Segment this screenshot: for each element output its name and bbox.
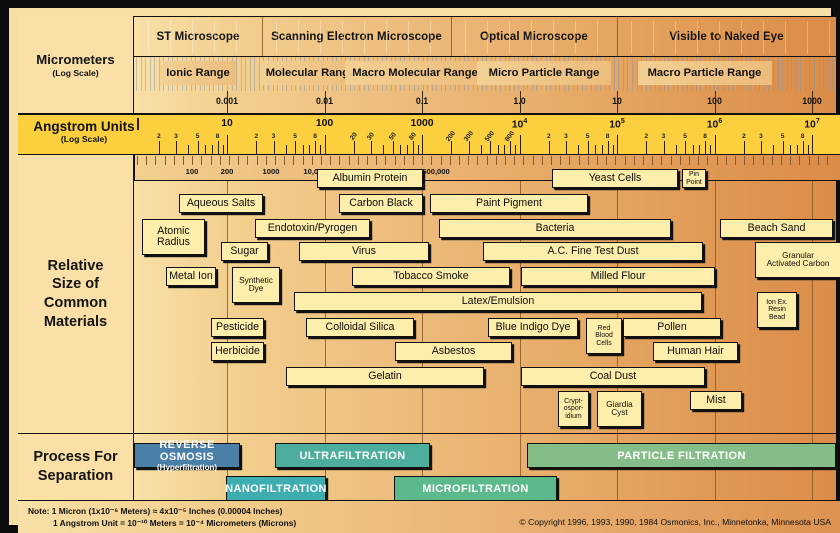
material-bar[interactable]: Human Hair xyxy=(653,342,738,361)
microscopy-band: ST MicroscopeScanning Electron Microscop… xyxy=(134,16,836,57)
size-range-3: Micro Particle Range xyxy=(474,61,614,85)
angstrom-minor-tick xyxy=(205,145,206,154)
mw-tick xyxy=(809,156,810,165)
angstrom-minor-tick xyxy=(451,141,452,154)
angstrom-minor-tick xyxy=(212,145,213,154)
band-hatch xyxy=(575,21,576,54)
mw-tick xyxy=(661,156,662,165)
mw-tick-label: 200 xyxy=(221,167,234,176)
material-label-line: Dye xyxy=(249,285,264,293)
angstrom-minor-tick xyxy=(315,141,316,154)
angstrom-minor-tick xyxy=(588,141,589,154)
mw-tick xyxy=(330,156,331,165)
material-bar[interactable]: Colloidal Silica xyxy=(306,318,414,337)
angstrom-minor-tick xyxy=(320,145,321,154)
angstrom-minor-label: 5 xyxy=(293,133,297,140)
band-hatch xyxy=(531,21,532,54)
mw-tick xyxy=(496,156,497,165)
material-bar[interactable]: Blue Indigo Dye xyxy=(488,318,578,337)
mw-tick xyxy=(615,156,616,165)
angstrom-minor-tick xyxy=(371,141,372,154)
mw-tick xyxy=(395,156,396,165)
size-range-4: Macro Particle Range xyxy=(635,61,775,85)
band-hatch xyxy=(465,21,466,54)
angstrom-minor-tick xyxy=(354,141,355,154)
microscopy-band-1: Scanning Electron Microscope xyxy=(262,17,451,56)
micrometers-label-text: Micrometers xyxy=(36,52,114,67)
band-hatch xyxy=(320,21,321,54)
material-label-line: Blood xyxy=(595,332,613,339)
process-label: ULTRAFILTRATION xyxy=(299,450,405,462)
mw-tick xyxy=(183,156,184,165)
band-hatch xyxy=(148,21,149,54)
material-label-line: Crypt- xyxy=(564,398,583,405)
section-label-line: Relative xyxy=(48,257,104,276)
angstrom-minor-label: 500 xyxy=(484,130,496,143)
mw-tick xyxy=(707,156,708,165)
band-hatch xyxy=(719,21,720,54)
process-bar[interactable]: MICROFILTRATION xyxy=(394,476,557,501)
section-label-line: Materials xyxy=(44,313,107,332)
band-hatch xyxy=(342,21,343,54)
angstrom-minor-label: 5 xyxy=(781,133,785,140)
note-line-2: 1 Angstrom Unit = 10⁻¹⁰ Meters = 10⁻⁴ Mi… xyxy=(53,518,296,528)
angstrom-minor-label: 8 xyxy=(313,133,317,140)
material-bar[interactable]: Virus xyxy=(299,242,429,261)
angstrom-origin-tick xyxy=(137,118,139,130)
chart-frame: ST MicroscopeScanning Electron Microscop… xyxy=(9,8,831,525)
mw-tick xyxy=(165,156,166,165)
angstrom-minor-tick xyxy=(198,141,199,154)
mw-tick xyxy=(781,156,782,165)
angstrom-minor-tick xyxy=(407,145,408,154)
band-hatch xyxy=(807,21,808,54)
size-range-2: Macro Molecular Range xyxy=(345,61,485,85)
angstrom-minor-tick xyxy=(223,145,224,154)
material-bar[interactable]: Pesticide xyxy=(211,318,264,337)
mw-tick xyxy=(413,156,414,165)
mw-tick xyxy=(146,156,147,165)
mw-tick xyxy=(579,156,580,165)
angstrom-major-tick xyxy=(227,135,228,154)
mw-tick xyxy=(753,156,754,165)
angstrom-major-label: 104 xyxy=(512,118,527,130)
material-label-line: Activated Carbon xyxy=(767,260,830,268)
angstrom-minor-tick xyxy=(549,141,550,154)
mw-tick xyxy=(487,156,488,165)
angstrom-minor-label: 8 xyxy=(216,133,220,140)
mw-tick xyxy=(312,156,313,165)
mw-tick xyxy=(247,156,248,165)
material-bar[interactable]: SyntheticDye xyxy=(232,267,280,303)
micrometer-tick-label: 0.001 xyxy=(216,96,238,106)
angstrom-minor-label: 8 xyxy=(801,133,805,140)
mw-tick xyxy=(523,156,524,165)
angstrom-minor-tick xyxy=(761,141,762,154)
mw-tick xyxy=(459,156,460,165)
process-section-label: Process ForSeparation xyxy=(18,433,134,500)
angstrom-minor-tick xyxy=(646,141,647,154)
microscopy-band-3: Visible to Naked Eye xyxy=(617,17,836,56)
angstrom-minor-tick xyxy=(566,141,567,154)
microscopy-band-0: ST Microscope xyxy=(134,17,262,56)
angstrom-minor-tick xyxy=(664,141,665,154)
mw-tick xyxy=(588,156,589,165)
band-hatch xyxy=(697,21,698,54)
band-hatch xyxy=(276,21,277,54)
material-label-line: Ion Ex. xyxy=(766,299,787,306)
micrometer-tick-label: 0.1 xyxy=(416,96,428,106)
angstrom-minor-label: 3 xyxy=(662,133,666,140)
angstrom-minor-tick xyxy=(515,145,516,154)
angstrom-major-tick xyxy=(520,135,521,154)
mw-tick xyxy=(385,156,386,165)
angstrom-minor-tick xyxy=(383,145,384,154)
band-separator xyxy=(617,17,618,56)
materials-section-label: RelativeSize ofCommonMaterials xyxy=(18,155,134,433)
mw-tick xyxy=(404,156,405,165)
angstrom-minor-tick xyxy=(413,141,414,154)
angstrom-minor-tick xyxy=(602,145,603,154)
mw-tick xyxy=(174,156,175,165)
angstrom-minor-tick xyxy=(418,145,419,154)
angstrom-minor-label: 2 xyxy=(157,133,161,140)
mw-tick xyxy=(763,156,764,165)
range-hatch xyxy=(632,57,633,91)
material-label-line: ospor- xyxy=(564,405,584,412)
mw-tick xyxy=(367,156,368,165)
band-hatch xyxy=(214,21,215,54)
mw-tick xyxy=(634,156,635,165)
material-bar[interactable]: Endotoxin/Pyrogen xyxy=(255,219,370,238)
angstrom-minor-tick xyxy=(400,145,401,154)
process-bar[interactable]: NANOFILTRATION xyxy=(226,476,326,501)
micrometers-sub-text: (Log Scale) xyxy=(52,68,98,78)
angstrom-minor-label: 2 xyxy=(645,133,649,140)
range-hatch xyxy=(828,57,829,91)
material-bar[interactable]: RedBloodCells xyxy=(586,318,622,354)
angstrom-label-text: Angstrom Units xyxy=(28,119,140,134)
band-hatch xyxy=(408,21,409,54)
mw-tick xyxy=(643,156,644,165)
band-hatch xyxy=(170,21,171,54)
angstrom-minor-tick xyxy=(744,141,745,154)
mw-tick xyxy=(551,156,552,165)
process-label: MICROFILTRATION xyxy=(422,483,528,495)
micrometer-tick-label: 1000 xyxy=(802,96,822,106)
band-hatch xyxy=(192,21,193,54)
micrometer-tick-row: 0.0010.010.11.0101001000 xyxy=(134,91,836,114)
mw-tick xyxy=(441,156,442,165)
micrometer-tick-label: 1.0 xyxy=(513,96,525,106)
material-bar[interactable]: Herbicide xyxy=(211,342,264,361)
angstrom-major-label: 105 xyxy=(609,118,624,130)
material-bar[interactable]: Albumin Protein xyxy=(317,169,423,188)
microscopy-band-2: Optical Microscope xyxy=(451,17,617,56)
material-bar[interactable]: AtomicRadius xyxy=(142,219,205,255)
mw-tick xyxy=(542,156,543,165)
mw-tick xyxy=(689,156,690,165)
material-bar[interactable]: Ion Ex.ResinBead xyxy=(757,292,797,328)
material-label-line: Point xyxy=(686,179,702,186)
angstrom-minor-label: 8 xyxy=(703,133,707,140)
material-bar[interactable]: Metal Ion xyxy=(166,267,216,286)
material-label-line: Red xyxy=(598,325,611,332)
micrometers-axis-label: Micrometers (Log Scale) xyxy=(18,16,134,114)
range-hatch xyxy=(778,57,779,91)
material-bar[interactable]: Milled Flour xyxy=(521,267,715,286)
angstrom-minor-label: 300 xyxy=(462,130,474,143)
mw-tick xyxy=(238,156,239,165)
material-bar[interactable]: Coal Dust xyxy=(521,367,705,386)
process-label: NANOFILTRATION xyxy=(225,483,327,495)
mw-tick xyxy=(192,156,193,165)
angstrom-major-tick xyxy=(422,135,423,154)
angstrom-major-tick xyxy=(812,135,813,154)
angstrom-major-label: 1000 xyxy=(410,118,433,129)
material-bar[interactable]: Carbon Black xyxy=(339,194,423,213)
angstrom-minor-label: 8 xyxy=(606,133,610,140)
angstrom-minor-tick xyxy=(504,145,505,154)
process-label: PARTICLE FILTRATION xyxy=(617,450,746,462)
band-hatch xyxy=(785,21,786,54)
footer-bar: Note: 1 Micron (1x10⁻⁶ Meters) ≈ 4x10⁻⁵ … xyxy=(18,500,840,533)
material-label-line: Pin xyxy=(689,171,699,178)
mw-tick xyxy=(533,156,534,165)
angstrom-minor-label: 2 xyxy=(742,133,746,140)
mw-tick xyxy=(155,156,156,165)
mw-tick xyxy=(477,156,478,165)
range-hatch xyxy=(796,57,797,91)
angstrom-minor-tick xyxy=(481,145,482,154)
band-hatch xyxy=(298,21,299,54)
angstrom-minor-label: 30 xyxy=(366,131,376,141)
angstrom-minor-tick xyxy=(608,141,609,154)
mw-tick xyxy=(303,156,304,165)
mw-tick xyxy=(505,156,506,165)
band-hatch xyxy=(597,21,598,54)
angstrom-minor-tick xyxy=(393,141,394,154)
angstrom-minor-tick xyxy=(510,141,511,154)
mw-tick xyxy=(625,156,626,165)
angstrom-minor-label: 2 xyxy=(255,133,259,140)
mw-tick xyxy=(698,156,699,165)
material-bar[interactable]: Sugar xyxy=(221,242,268,261)
angstrom-minor-tick xyxy=(693,145,694,154)
material-bar[interactable]: GiardiaCyst xyxy=(597,391,642,427)
angstrom-minor-tick xyxy=(797,145,798,154)
mw-tick xyxy=(358,156,359,165)
mw-tick xyxy=(514,156,515,165)
angstrom-axis-label: Angstrom Units (Log Scale) xyxy=(28,119,140,144)
band-separator xyxy=(451,17,452,56)
mw-tick-label: 500,000 xyxy=(422,167,449,176)
mw-tick xyxy=(717,156,718,165)
copyright-text: © Copyright 1996, 1993, 1990, 1984 Osmon… xyxy=(519,517,831,527)
angstrom-minor-tick xyxy=(303,145,304,154)
angstrom-minor-label: 5 xyxy=(683,133,687,140)
band-hatch xyxy=(631,21,632,54)
angstrom-minor-tick xyxy=(176,141,177,154)
range-hatch xyxy=(819,57,820,91)
mw-tick xyxy=(744,156,745,165)
angstrom-minor-tick xyxy=(218,141,219,154)
process-bar[interactable]: ULTRAFILTRATION xyxy=(275,443,430,468)
angstrom-minor-tick xyxy=(469,141,470,154)
mw-tick xyxy=(349,156,350,165)
material-bar[interactable]: Yeast Cells xyxy=(552,169,678,188)
angstrom-minor-tick xyxy=(490,141,491,154)
range-hatch xyxy=(627,57,628,91)
note-line-1: Note: 1 Micron (1x10⁻⁶ Meters) ≈ 4x10⁻⁵ … xyxy=(28,506,282,516)
band-hatch xyxy=(364,21,365,54)
mw-tick xyxy=(431,156,432,165)
material-bar[interactable]: GranularActivated Carbon xyxy=(755,242,840,278)
band-separator xyxy=(262,17,263,56)
angstrom-minor-label: 20 xyxy=(349,131,359,141)
angstrom-major-label: 107 xyxy=(804,118,819,130)
angstrom-minor-label: 800 xyxy=(504,130,516,143)
material-bar[interactable]: Gelatin xyxy=(286,367,484,386)
size-range-band: Ionic RangeMolecular RangeMacro Molecula… xyxy=(134,57,836,91)
angstrom-major-tick xyxy=(325,135,326,154)
angstrom-minor-tick xyxy=(710,145,711,154)
angstrom-minor-tick xyxy=(808,145,809,154)
process-bar[interactable]: REVERSE OSMOSIS(Hyperfiltration) xyxy=(134,443,240,468)
angstrom-minor-tick xyxy=(699,145,700,154)
band-hatch xyxy=(829,21,830,54)
process-bar[interactable]: PARTICLE FILTRATION xyxy=(527,443,836,468)
material-bar[interactable]: Latex/Emulsion xyxy=(294,292,702,311)
angstrom-minor-label: 5 xyxy=(586,133,590,140)
material-bar[interactable]: Tobacco Smoke xyxy=(352,267,510,286)
mw-tick-label: 100 xyxy=(186,167,199,176)
angstrom-major-label: 100 xyxy=(316,118,333,129)
material-bar[interactable]: Bacteria xyxy=(439,219,671,238)
process-sublabel: (Hyperfiltration) xyxy=(157,463,217,472)
band-hatch xyxy=(509,21,510,54)
angstrom-minor-label: 200 xyxy=(445,130,457,143)
mw-tick xyxy=(671,156,672,165)
angstrom-minor-label: 3 xyxy=(759,133,763,140)
range-hatch xyxy=(814,57,815,91)
mw-tick xyxy=(560,156,561,165)
angstrom-minor-label: 80 xyxy=(408,131,418,141)
angstrom-minor-tick xyxy=(309,145,310,154)
section-label-line: Separation xyxy=(38,467,113,486)
angstrom-minor-tick xyxy=(685,141,686,154)
material-label-line: idium xyxy=(565,413,581,420)
section-label-line: Process For xyxy=(33,448,117,467)
mw-tick xyxy=(275,156,276,165)
material-bar[interactable]: Pollen xyxy=(623,318,721,337)
range-hatch xyxy=(809,57,810,91)
angstrom-minor-tick xyxy=(773,145,774,154)
material-label-line: Cells xyxy=(596,340,611,347)
angstrom-major-tick xyxy=(617,135,618,154)
angstrom-minor-tick xyxy=(783,141,784,154)
angstrom-major-label: 106 xyxy=(707,118,722,130)
materials-plot-area: Albumin ProteinYeast CellsPinPointAqueou… xyxy=(134,181,836,433)
angstrom-minor-tick xyxy=(274,141,275,154)
mw-tick xyxy=(257,156,258,165)
angstrom-minor-tick xyxy=(676,145,677,154)
band-hatch xyxy=(653,21,654,54)
angstrom-minor-label: 3 xyxy=(564,133,568,140)
material-bar[interactable]: Asbestos xyxy=(395,342,512,361)
range-hatch xyxy=(623,57,624,91)
angstrom-minor-tick xyxy=(256,141,257,154)
range-hatch xyxy=(782,57,783,91)
angstrom-units-band: Angstrom Units (Log Scale) 1010010001041… xyxy=(18,114,840,155)
mw-tick xyxy=(772,156,773,165)
band-hatch xyxy=(386,21,387,54)
molecular-weight-band: Approx. Molecular Wt. (Saccharide Type-N… xyxy=(18,155,840,181)
mw-tick xyxy=(818,156,819,165)
mw-tick xyxy=(422,156,423,165)
mw-tick xyxy=(220,156,221,165)
mw-tick xyxy=(339,156,340,165)
section-label-line: Common xyxy=(44,294,107,313)
range-hatch xyxy=(791,57,792,91)
angstrom-minor-label: 2 xyxy=(547,133,551,140)
mw-tick xyxy=(229,156,230,165)
mw-tick xyxy=(606,156,607,165)
mw-tick xyxy=(680,156,681,165)
angstrom-minor-tick xyxy=(595,145,596,154)
material-bar[interactable]: Crypt-ospor-idium xyxy=(558,391,589,427)
material-bar[interactable]: PinPoint xyxy=(682,169,706,188)
angstrom-major-tick xyxy=(715,135,716,154)
mw-tick xyxy=(799,156,800,165)
material-label-line: Bead xyxy=(769,314,785,321)
material-bar[interactable]: Paint Pigment xyxy=(430,194,588,213)
angstrom-minor-tick xyxy=(578,145,579,154)
angstrom-minor-tick xyxy=(286,145,287,154)
mw-tick xyxy=(735,156,736,165)
angstrom-sub-text: (Log Scale) xyxy=(28,134,140,144)
plot-gridline xyxy=(227,181,228,433)
mw-tick xyxy=(827,156,828,165)
material-bar[interactable]: Mist xyxy=(690,391,742,410)
angstrom-minor-tick xyxy=(498,145,499,154)
angstrom-minor-tick xyxy=(803,141,804,154)
material-label-line: Radius xyxy=(157,237,190,248)
process-plot-area: REVERSE OSMOSIS(Hyperfiltration)ULTRAFIL… xyxy=(134,433,836,500)
mw-tick xyxy=(284,156,285,165)
range-hatch xyxy=(800,57,801,91)
material-bar[interactable]: Beach Sand xyxy=(720,219,833,238)
mw-tick xyxy=(726,156,727,165)
band-hatch xyxy=(430,21,431,54)
mw-tick xyxy=(597,156,598,165)
process-label: REVERSE OSMOSIS xyxy=(135,439,239,463)
band-hatch xyxy=(741,21,742,54)
mw-tick xyxy=(468,156,469,165)
material-bar[interactable]: A.C. Fine Test Dust xyxy=(483,242,703,261)
filtration-spectrum-chart: ST MicroscopeScanning Electron Microscop… xyxy=(0,0,840,533)
angstrom-minor-label: 5 xyxy=(196,133,200,140)
micrometer-tick-label: 0.01 xyxy=(316,96,333,106)
mw-tick xyxy=(201,156,202,165)
range-hatch xyxy=(805,57,806,91)
micrometer-tick-label: 10 xyxy=(612,96,622,106)
material-label-line: Cyst xyxy=(611,409,627,417)
material-bar[interactable]: Aqueous Salts xyxy=(179,194,263,213)
mw-tick xyxy=(293,156,294,165)
mw-tick xyxy=(321,156,322,165)
angstrom-minor-tick xyxy=(159,141,160,154)
